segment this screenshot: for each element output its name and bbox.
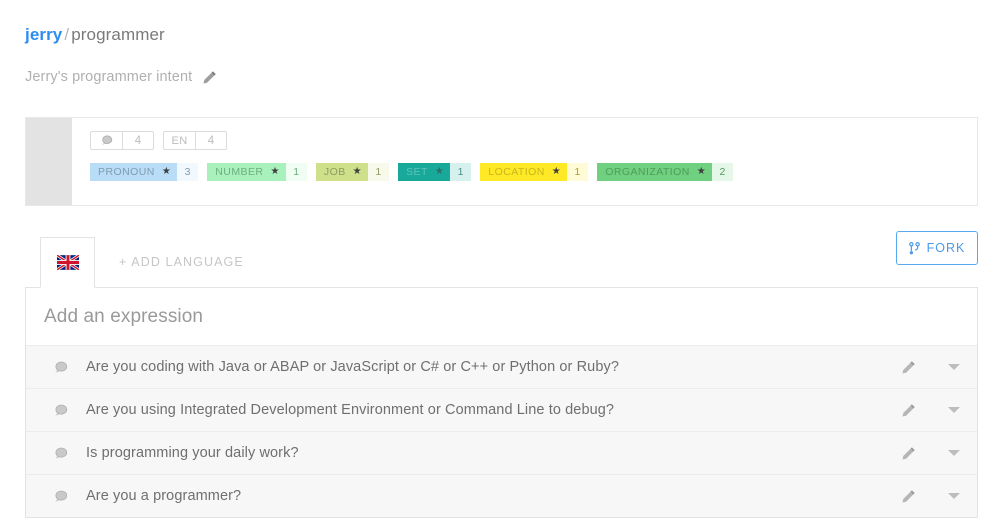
entity-tag-row: PRONOUN ★ 3 NUMBER ★ 1 JOB ★ 1 SET ★ 1 L… <box>90 163 977 181</box>
expression-count-chip[interactable]: 4 <box>90 131 154 150</box>
breadcrumb-intent-name[interactable]: programmer <box>71 25 165 44</box>
chevron-down-icon <box>948 364 960 370</box>
entity-tag[interactable]: PRONOUN ★ 3 <box>90 163 198 181</box>
stats-card-sidebar <box>26 118 72 205</box>
expression-text: Are you a programmer? <box>68 488 885 504</box>
entity-tag-label: ORGANIZATION <box>597 163 697 181</box>
expression-text: Are you coding with Java or ABAP or Java… <box>68 359 885 375</box>
language-tabs: + ADD LANGUAGE <box>40 237 262 288</box>
speech-bubble-icon <box>54 490 68 503</box>
star-icon: ★ <box>270 163 285 181</box>
expand-expression-button[interactable] <box>931 450 977 456</box>
language-code-label: EN <box>164 132 195 149</box>
expression-text: Are you using Integrated Development Env… <box>68 402 885 418</box>
add-language-button[interactable]: + ADD LANGUAGE <box>95 237 262 288</box>
counter-row: 4 EN 4 <box>90 131 977 150</box>
entity-tag-count: 1 <box>368 163 389 181</box>
expression-text: Is programming your daily work? <box>68 445 885 461</box>
speech-bubble-icon <box>54 361 68 374</box>
edit-expression-button[interactable] <box>885 403 931 418</box>
edit-expression-button[interactable] <box>885 489 931 504</box>
entity-tag-count: 1 <box>450 163 471 181</box>
intent-description: Jerry's programmer intent <box>25 69 192 85</box>
expand-expression-button[interactable] <box>931 407 977 413</box>
entity-tag-count: 2 <box>712 163 733 181</box>
intent-description-row: Jerry's programmer intent <box>25 69 217 85</box>
edit-expression-button[interactable] <box>885 360 931 375</box>
expression-count-value: 4 <box>122 132 153 149</box>
language-count-value: 4 <box>195 132 226 149</box>
expand-expression-button[interactable] <box>931 364 977 370</box>
chevron-down-icon <box>948 450 960 456</box>
speech-bubble-icon <box>91 132 122 149</box>
chevron-down-icon <box>948 493 960 499</box>
expression-row[interactable]: Is programming your daily work? <box>26 431 977 474</box>
breadcrumb: jerry/programmer <box>25 24 165 46</box>
entity-tag-label: SET <box>398 163 435 181</box>
breadcrumb-owner-link[interactable]: jerry <box>25 25 62 44</box>
expressions-panel: Add an expression Are you coding with Ja… <box>25 287 978 518</box>
expression-row[interactable]: Are you a programmer? <box>26 474 977 517</box>
add-expression-input[interactable]: Add an expression <box>26 288 977 345</box>
entity-tag-label: NUMBER <box>207 163 270 181</box>
star-icon: ★ <box>353 163 368 181</box>
entity-tag[interactable]: NUMBER ★ 1 <box>207 163 307 181</box>
speech-bubble-icon <box>54 404 68 417</box>
code-branch-icon <box>909 242 920 255</box>
star-icon: ★ <box>552 163 567 181</box>
entity-tag[interactable]: JOB ★ 1 <box>316 163 389 181</box>
entity-tag-label: JOB <box>316 163 353 181</box>
entity-tag-count: 3 <box>177 163 198 181</box>
stats-card: 4 EN 4 PRONOUN ★ 3 NUMBER ★ 1 JOB ★ 1 <box>25 117 978 206</box>
tab-language-en[interactable] <box>40 237 95 288</box>
fork-button-label: FORK <box>927 241 966 255</box>
entity-tag-label: LOCATION <box>480 163 552 181</box>
star-icon: ★ <box>162 163 177 181</box>
fork-button[interactable]: FORK <box>896 231 978 265</box>
star-icon: ★ <box>697 163 712 181</box>
entity-tag[interactable]: ORGANIZATION ★ 2 <box>597 163 733 181</box>
language-count-chip[interactable]: EN 4 <box>163 131 227 150</box>
entity-tag-count: 1 <box>286 163 307 181</box>
breadcrumb-separator: / <box>62 25 71 44</box>
stats-card-body: 4 EN 4 PRONOUN ★ 3 NUMBER ★ 1 JOB ★ 1 <box>72 118 977 205</box>
expression-row[interactable]: Are you coding with Java or ABAP or Java… <box>26 345 977 388</box>
uk-flag-icon <box>57 255 79 270</box>
expression-row[interactable]: Are you using Integrated Development Env… <box>26 388 977 431</box>
entity-tag-count: 1 <box>567 163 588 181</box>
entity-tag[interactable]: SET ★ 1 <box>398 163 471 181</box>
entity-tag-label: PRONOUN <box>90 163 162 181</box>
pencil-icon[interactable] <box>202 70 217 85</box>
entity-tag[interactable]: LOCATION ★ 1 <box>480 163 588 181</box>
star-icon: ★ <box>435 163 450 181</box>
chevron-down-icon <box>948 407 960 413</box>
expand-expression-button[interactable] <box>931 493 977 499</box>
edit-expression-button[interactable] <box>885 446 931 461</box>
speech-bubble-icon <box>54 447 68 460</box>
